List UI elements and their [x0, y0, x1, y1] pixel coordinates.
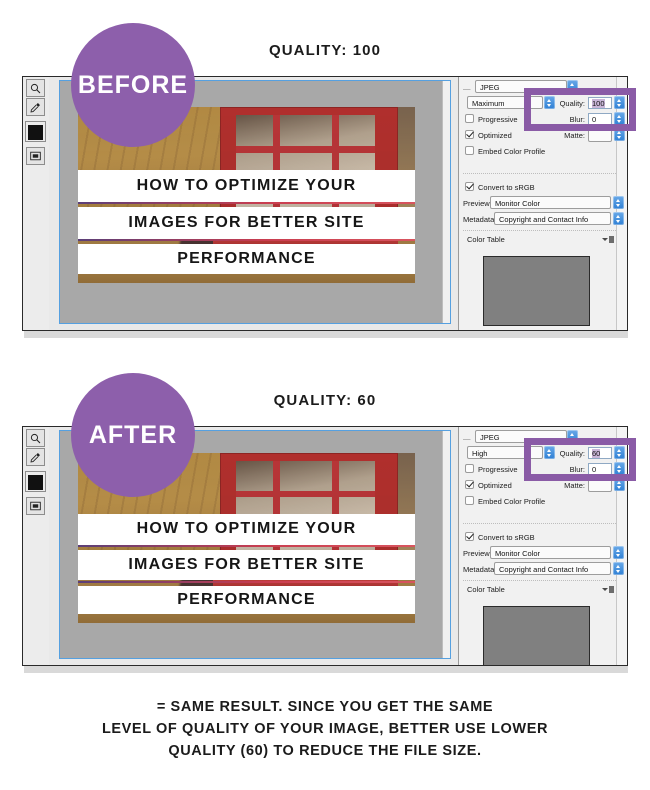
window-shadow-before	[24, 331, 628, 338]
blur-label-before: Blur:	[563, 115, 585, 124]
color-table-menu-icon-after[interactable]	[602, 585, 614, 593]
quality-value-field-before[interactable]: 100	[588, 97, 612, 109]
eyedropper-tool-icon[interactable]	[26, 98, 45, 116]
progressive-label-after: Progressive	[478, 465, 518, 474]
foreground-color-swatch[interactable]	[25, 121, 46, 142]
embed-profile-label-after: Embed Color Profile	[478, 497, 545, 506]
color-table-row-before: Color Table	[463, 232, 616, 246]
tool-strip-after	[23, 427, 50, 665]
photo-separator-2-after	[78, 581, 415, 583]
format-row-after: — JPEG	[463, 430, 616, 444]
blur-value-field-after[interactable]: 0	[588, 463, 612, 475]
preview-label-after: Preview:	[463, 549, 492, 558]
after-section: QUALITY: 60	[0, 350, 650, 680]
embed-profile-row-after: Embed Color Profile	[463, 494, 616, 508]
optimized-checkbox-before[interactable]	[465, 130, 474, 139]
optimized-matte-row-after: Optimized Matte:	[463, 478, 616, 492]
preview-toggle-icon-after[interactable]	[26, 497, 45, 515]
convert-srgb-checkbox-before[interactable]	[465, 182, 474, 191]
color-table-swatch-area-before[interactable]	[483, 256, 590, 326]
convert-srgb-row-before: Convert to sRGB	[463, 180, 616, 194]
metadata-row-before: Metadata: Copyright and Contact Info	[463, 212, 616, 226]
settings-divider-after	[463, 523, 616, 524]
convert-srgb-label-before: Convert to sRGB	[478, 183, 535, 192]
optimized-checkbox-after[interactable]	[465, 480, 474, 489]
hand-tool-icon[interactable]	[26, 79, 45, 97]
badge-after: AFTER	[71, 373, 195, 497]
embed-profile-label-before: Embed Color Profile	[478, 147, 545, 156]
photo-headline-line2: IMAGES FOR BETTER SITE	[78, 207, 415, 239]
footer-caption: = SAME RESULT. SINCE YOU GET THE SAME LE…	[0, 697, 650, 762]
progressive-checkbox-after[interactable]	[465, 464, 474, 473]
preset-quality-select-before[interactable]: Maximum	[467, 96, 543, 109]
preview-row-before: Preview: Monitor Color	[463, 196, 616, 210]
quality-label-before: Quality:	[557, 99, 585, 108]
blur-value-field-before[interactable]: 0	[588, 113, 612, 125]
matte-label-after: Matte:	[557, 481, 585, 490]
optimized-label-before: Optimized	[478, 131, 512, 140]
format-stepper-before[interactable]	[567, 80, 578, 93]
embed-profile-checkbox-after[interactable]	[465, 496, 474, 505]
photo-separator-1-after	[78, 545, 415, 547]
photo-separator-1	[78, 202, 415, 204]
photo-headline-line3-after: PERFORMANCE	[78, 586, 415, 615]
optimized-label-after: Optimized	[478, 481, 512, 490]
metadata-row-after: Metadata: Copyright and Contact Info	[463, 562, 616, 576]
preview-stepper-before[interactable]	[613, 196, 624, 209]
quality-stepper-before[interactable]	[614, 96, 625, 109]
matte-stepper-after[interactable]	[614, 478, 625, 491]
progressive-label-before: Progressive	[478, 115, 518, 124]
progressive-checkbox-before[interactable]	[465, 114, 474, 123]
progressive-blur-row-before: Progressive Blur: 0	[463, 112, 616, 126]
hand-tool-icon-after[interactable]	[26, 429, 45, 447]
preview-select-before[interactable]: Monitor Color	[490, 196, 611, 209]
settings-divider2-after	[463, 580, 616, 581]
footer-line-1: = SAME RESULT. SINCE YOU GET THE SAME	[0, 697, 650, 719]
quality-label-after: Quality:	[557, 449, 585, 458]
settings-divider2-before	[463, 230, 616, 231]
metadata-label-after: Metadata:	[463, 565, 496, 574]
preview-stepper-after[interactable]	[613, 546, 624, 559]
photo-headline-line3: PERFORMANCE	[78, 244, 415, 274]
color-table-row-after: Color Table	[463, 582, 616, 596]
quality-value-text-before: 100	[592, 99, 605, 108]
eyedropper-tool-icon-after[interactable]	[26, 448, 45, 466]
preset-quality-select-after[interactable]: High	[467, 446, 543, 459]
metadata-label-before: Metadata:	[463, 215, 496, 224]
blur-label-after: Blur:	[563, 465, 585, 474]
metadata-stepper-before[interactable]	[613, 212, 624, 225]
photo-headline-line2-after: IMAGES FOR BETTER SITE	[78, 550, 415, 581]
color-table-label-before: Color Table	[467, 235, 505, 244]
footer-line-3: QUALITY (60) TO REDUCE THE FILE SIZE.	[0, 741, 650, 763]
photo-headline-line1: HOW TO OPTIMIZE YOUR	[78, 170, 415, 202]
convert-srgb-checkbox-after[interactable]	[465, 532, 474, 541]
footer-line-2: LEVEL OF QUALITY OF YOUR IMAGE, BETTER U…	[0, 719, 650, 741]
optimized-matte-row-before: Optimized Matte:	[463, 128, 616, 142]
preset-quality-stepper-before[interactable]	[544, 96, 555, 109]
settings-divider-before	[463, 173, 616, 174]
preset-quality-row-after: High Quality: 60	[463, 446, 616, 460]
quality-value-text-after: 60	[592, 449, 600, 458]
tool-strip-before	[23, 77, 50, 330]
blur-stepper-before[interactable]	[614, 112, 625, 125]
preview-toggle-icon[interactable]	[26, 147, 45, 165]
metadata-select-after[interactable]: Copyright and Contact Info	[494, 562, 611, 575]
infographic-page: QUALITY: 100	[0, 0, 650, 790]
matte-value-field-before[interactable]	[588, 129, 612, 142]
photo-separator-2	[78, 239, 415, 241]
canvas-scrollbar-after[interactable]	[442, 431, 450, 658]
format-disclosure-icon-after[interactable]: —	[463, 434, 471, 443]
metadata-select-before[interactable]: Copyright and Contact Info	[494, 212, 611, 225]
before-section: QUALITY: 100	[0, 0, 650, 350]
preview-label-before: Preview:	[463, 199, 492, 208]
progressive-blur-row-after: Progressive Blur: 0	[463, 462, 616, 476]
metadata-stepper-after[interactable]	[613, 562, 624, 575]
color-table-menu-icon[interactable]	[602, 235, 614, 243]
matte-label-before: Matte:	[557, 131, 585, 140]
embed-profile-row-before: Embed Color Profile	[463, 144, 616, 158]
matte-value-field-after[interactable]	[588, 479, 612, 492]
color-table-label-after: Color Table	[467, 585, 505, 594]
preview-row-after: Preview: Monitor Color	[463, 546, 616, 560]
preset-quality-stepper-after[interactable]	[544, 446, 555, 459]
format-stepper-after[interactable]	[567, 430, 578, 443]
matte-stepper-before[interactable]	[614, 128, 625, 141]
save-for-web-settings-after: — JPEG High Quality: 60	[458, 427, 628, 665]
format-select-after[interactable]: JPEG	[475, 430, 567, 443]
badge-before: BEFORE	[71, 23, 195, 147]
blur-stepper-after[interactable]	[614, 462, 625, 475]
embed-profile-checkbox-before[interactable]	[465, 146, 474, 155]
quality-value-field-after[interactable]: 60	[588, 447, 612, 459]
convert-srgb-row-after: Convert to sRGB	[463, 530, 616, 544]
color-table-swatch-area-after[interactable]	[483, 606, 590, 666]
format-row-before: — JPEG	[463, 80, 616, 94]
quality-stepper-after[interactable]	[614, 446, 625, 459]
convert-srgb-label-after: Convert to sRGB	[478, 533, 535, 542]
format-select-before[interactable]: JPEG	[475, 80, 567, 93]
preview-select-after[interactable]: Monitor Color	[490, 546, 611, 559]
foreground-color-swatch-after[interactable]	[25, 471, 46, 492]
save-for-web-settings-before: — JPEG Maximum Quality: 100	[458, 77, 628, 330]
preset-quality-row-before: Maximum Quality: 100	[463, 96, 616, 110]
canvas-scrollbar-before[interactable]	[442, 81, 450, 323]
format-disclosure-icon[interactable]: —	[463, 84, 471, 93]
window-shadow-after	[24, 666, 628, 673]
photo-headline-line1-after: HOW TO OPTIMIZE YOUR	[78, 514, 415, 545]
